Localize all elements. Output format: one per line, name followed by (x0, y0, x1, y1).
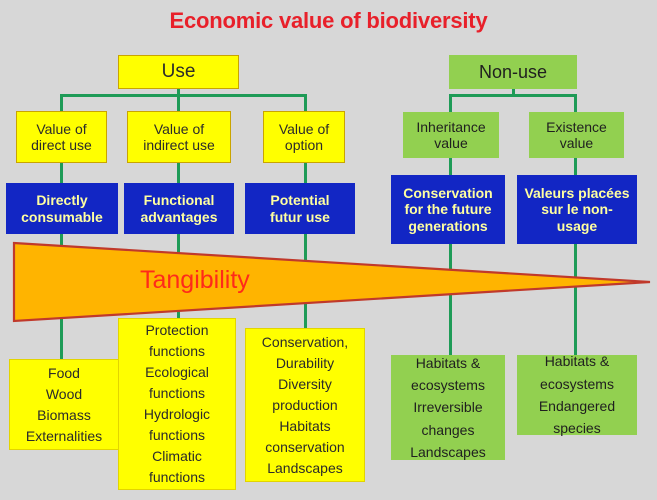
connector-existence-to-blue (574, 157, 577, 176)
connector-inheritance-blue-to-list (449, 243, 452, 356)
node-value-of-indirect-use[interactable]: Value of indirect use (127, 111, 231, 163)
node-valeurs-placees-sur-le-non-usage[interactable]: Valeurs placées sur le non- usage (517, 175, 637, 244)
connector-existence-blue-to-list (574, 243, 577, 356)
list-potential-futur-use-examples[interactable]: Conservation, Durability Diversity produ… (245, 328, 365, 482)
node-value-of-option[interactable]: Value of option (263, 111, 345, 163)
connector-use-bus (61, 94, 306, 97)
connector-nonuse-bus (449, 94, 577, 97)
node-functional-advantages[interactable]: Functional advantages (124, 183, 234, 234)
node-use[interactable]: Use (118, 55, 239, 89)
connector-inheritance-to-blue (449, 157, 452, 176)
node-potential-futur-use[interactable]: Potential futur use (245, 183, 355, 234)
node-conservation-for-the-future-generations[interactable]: Conservation for the future generations (391, 175, 505, 244)
connector-use-to-direct (60, 94, 63, 111)
diagram-canvas: Economic value of biodiversity Use Non-u… (0, 0, 657, 500)
list-functional-advantages-examples[interactable]: Protection functions Ecological function… (118, 318, 236, 490)
connector-nonuse-to-existence (574, 94, 577, 113)
connector-option-value-to-blue (304, 162, 307, 184)
list-inheritance-value-examples[interactable]: Habitats & ecosystems Irreversible chang… (391, 355, 505, 460)
list-existence-value-examples[interactable]: Habitats & ecosystems Endangered species (517, 355, 637, 435)
node-existence-value[interactable]: Existence value (529, 112, 624, 158)
connector-use-to-option (304, 94, 307, 111)
list-directly-consumable-examples[interactable]: Food Wood Biomass Externalities (9, 359, 119, 450)
tangibility-label: Tangibility (140, 266, 250, 295)
node-inheritance-value[interactable]: Inheritance value (403, 112, 499, 158)
connector-direct-blue-to-list (60, 233, 63, 360)
connector-indirect-value-to-blue (177, 162, 180, 184)
node-directly-consumable[interactable]: Directly consumable (6, 183, 118, 234)
node-value-of-direct-use[interactable]: Value of direct use (16, 111, 107, 163)
connector-option-blue-to-list (304, 233, 307, 329)
page-title: Economic value of biodiversity (0, 8, 657, 34)
connector-nonuse-to-inheritance (449, 94, 452, 113)
node-non-use[interactable]: Non-use (449, 55, 577, 89)
connector-direct-value-to-blue (60, 162, 63, 184)
connector-use-to-indirect (177, 94, 180, 111)
